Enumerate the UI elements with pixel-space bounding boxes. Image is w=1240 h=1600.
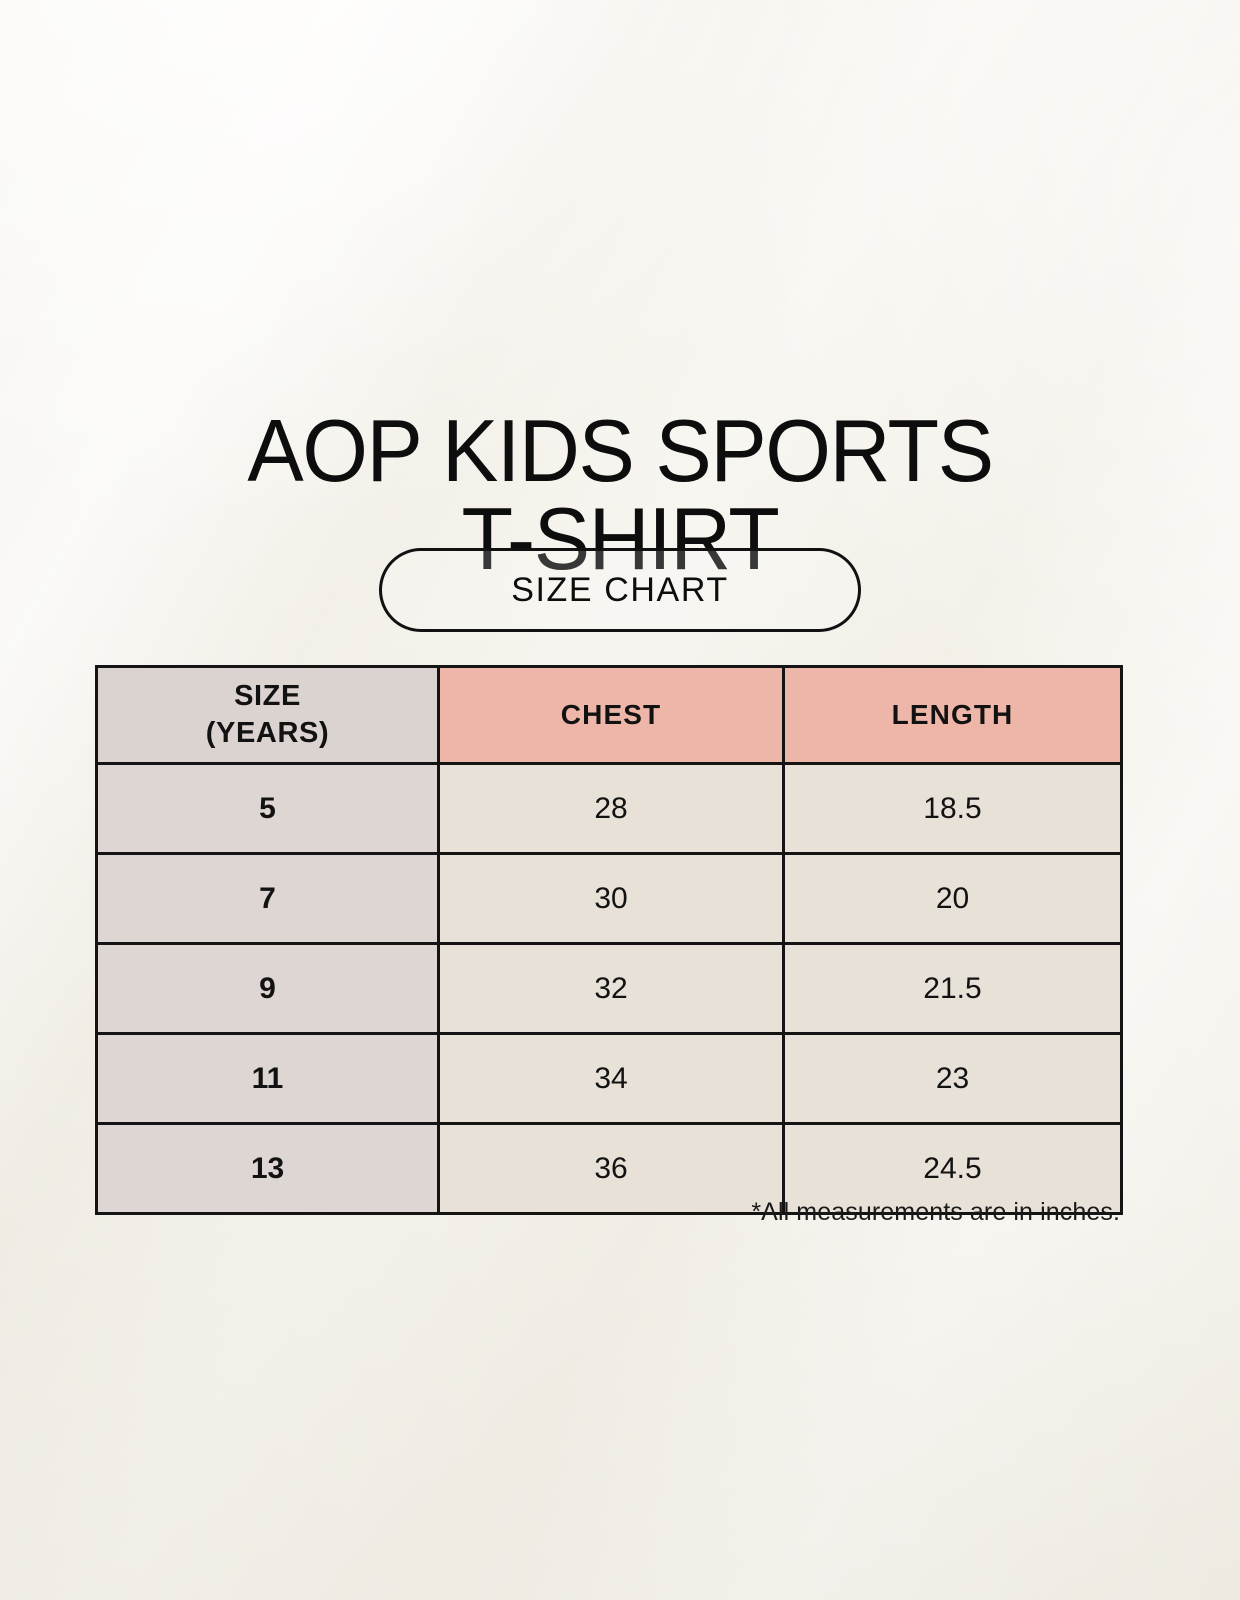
- table-row: 11 34 23: [97, 1034, 1122, 1124]
- page-content: AOP KIDS SPORTS T-SHIRT SIZE CHART SIZE …: [0, 0, 1240, 1600]
- table-row: 9 32 21.5: [97, 944, 1122, 1034]
- cell-chest: 28: [439, 764, 784, 854]
- cell-length: 18.5: [784, 764, 1122, 854]
- cell-size: 9: [97, 944, 439, 1034]
- table-row: 5 28 18.5: [97, 764, 1122, 854]
- cell-length: 23: [784, 1034, 1122, 1124]
- column-header-size: SIZE (YEARS): [97, 667, 439, 764]
- table-header-row: SIZE (YEARS) CHEST LENGTH: [97, 667, 1122, 764]
- cell-size: 11: [97, 1034, 439, 1124]
- page-background: AOP KIDS SPORTS T-SHIRT SIZE CHART SIZE …: [0, 0, 1240, 1600]
- table-header: SIZE (YEARS) CHEST LENGTH: [97, 667, 1122, 764]
- cell-chest: 30: [439, 854, 784, 944]
- badge-container: SIZE CHART: [0, 548, 1240, 632]
- cell-length: 21.5: [784, 944, 1122, 1034]
- size-chart-table: SIZE (YEARS) CHEST LENGTH 5 28 18.5 7 30…: [95, 665, 1123, 1215]
- column-header-chest: CHEST: [439, 667, 784, 764]
- cell-size: 5: [97, 764, 439, 854]
- measurement-units-note: *All measurements are in inches.: [95, 1198, 1120, 1227]
- cell-length: 20: [784, 854, 1122, 944]
- cell-size: 7: [97, 854, 439, 944]
- table-body: 5 28 18.5 7 30 20 9 32 21.5: [97, 764, 1122, 1214]
- column-header-length: LENGTH: [784, 667, 1122, 764]
- cell-chest: 34: [439, 1034, 784, 1124]
- size-chart-badge: SIZE CHART: [379, 548, 861, 632]
- size-chart-table-container: SIZE (YEARS) CHEST LENGTH 5 28 18.5 7 30…: [95, 665, 1120, 1215]
- table-row: 7 30 20: [97, 854, 1122, 944]
- cell-chest: 32: [439, 944, 784, 1034]
